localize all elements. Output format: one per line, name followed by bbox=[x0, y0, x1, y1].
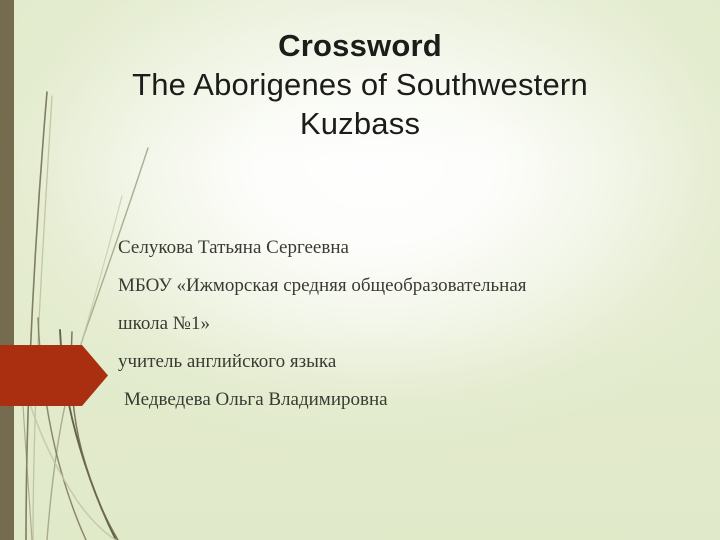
body-line-school-2: школа №1» bbox=[118, 309, 618, 339]
olive-edge-bar bbox=[0, 0, 14, 540]
slide-title-line-1: Crossword bbox=[72, 26, 648, 65]
body-line-role: учитель английского языка bbox=[118, 347, 618, 377]
slide-title: Crossword The Aborigenes of Southwestern… bbox=[72, 26, 648, 143]
body-line-school-1: МБОУ «Ижморская средняя общеобразователь… bbox=[118, 271, 618, 301]
red-arrow-accent bbox=[0, 345, 108, 406]
slide-title-line-2: The Aborigenes of Southwestern bbox=[72, 65, 648, 104]
slide-title-line-3: Kuzbass bbox=[72, 104, 648, 143]
body-line-author-2: Медведева Ольга Владимировна bbox=[118, 385, 618, 415]
slide-body: Селукова Татьяна Сергеевна МБОУ «Ижморск… bbox=[118, 233, 618, 423]
body-line-author-1: Селукова Татьяна Сергеевна bbox=[118, 233, 618, 263]
presentation-slide: Crossword The Aborigenes of Southwestern… bbox=[0, 0, 720, 540]
